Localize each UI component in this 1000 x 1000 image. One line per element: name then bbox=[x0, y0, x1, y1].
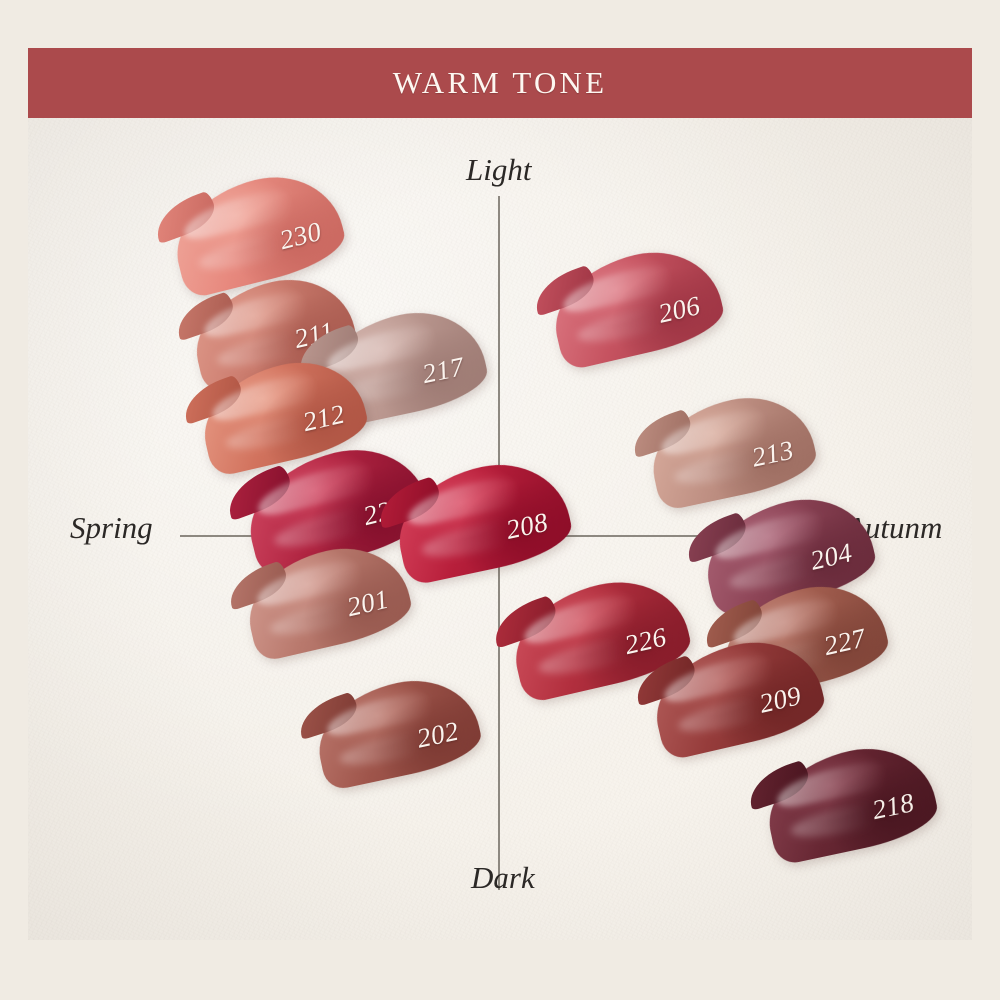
axis-label-dark: Dark bbox=[471, 860, 535, 896]
axis-label-light: Light bbox=[466, 152, 531, 188]
banner-header: WARM TONE bbox=[28, 48, 972, 118]
swatch-blob bbox=[308, 668, 486, 792]
swatch-218[interactable]: 218 bbox=[758, 736, 943, 867]
swatch-213[interactable]: 213 bbox=[642, 385, 821, 512]
swatch-206[interactable]: 206 bbox=[543, 238, 729, 371]
warm-tone-lipstick-shade-chart: WARM TONE Light Dark Spring Autunm 23021… bbox=[0, 0, 1000, 1000]
swatch-blob bbox=[642, 385, 821, 512]
chart-canvas: Light Dark Spring Autunm 230211217212225… bbox=[28, 118, 972, 940]
swatch-202[interactable]: 202 bbox=[308, 668, 486, 792]
swatch-blob bbox=[543, 238, 729, 371]
page-title: WARM TONE bbox=[393, 65, 608, 101]
axis-label-spring: Spring bbox=[70, 510, 153, 546]
swatch-blob bbox=[758, 736, 943, 867]
